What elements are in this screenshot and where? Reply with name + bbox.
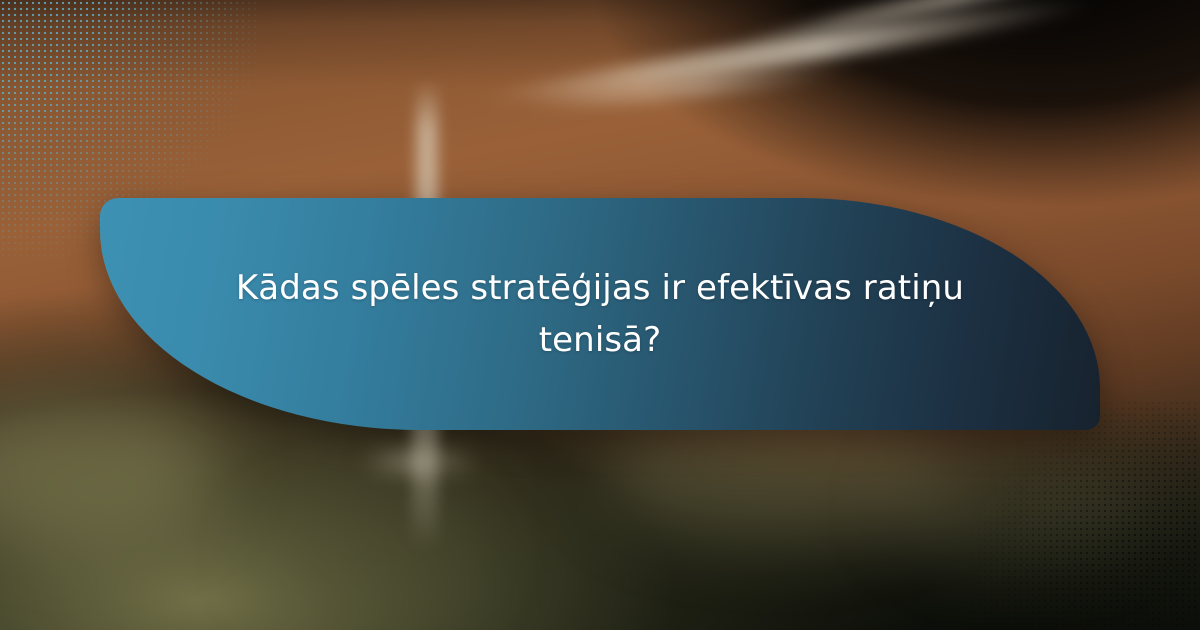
headline-text: Kādas spēles stratēģijas ir efektīvas ra… xyxy=(200,262,1000,366)
background-blob xyxy=(260,500,480,610)
headline-banner: Kādas spēles stratēģijas ir efektīvas ra… xyxy=(100,198,1100,430)
social-share-card: Kādas spēles stratēģijas ir efektīvas ra… xyxy=(0,0,1200,630)
net-post xyxy=(360,448,480,474)
background-blob xyxy=(890,452,1150,562)
